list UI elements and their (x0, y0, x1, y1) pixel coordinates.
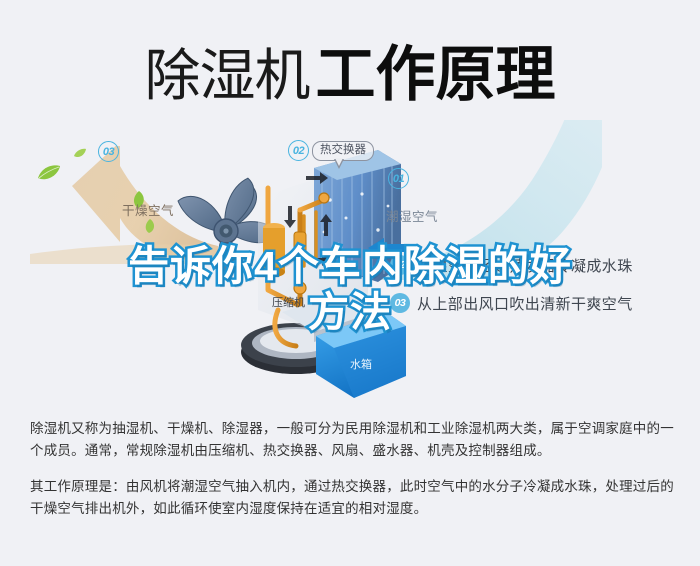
dehumidifier-unit-illustration: 压缩机 水箱 (238, 140, 408, 402)
legend-item-text: 潮湿空气经过蒸发器冷凝成水珠 (417, 255, 633, 276)
legend-badge-03: 03 (390, 293, 410, 313)
legend-item: 03 从上部出风口吹出清新干爽空气 (390, 284, 690, 322)
compressor-label: 压缩机 (272, 295, 305, 309)
page-root: 除湿机工作原理 (0, 0, 700, 566)
dry-air-label: 干燥空气 (122, 200, 174, 219)
legend-list: 02 潮湿空气经过蒸发器冷凝成水珠 03 从上部出风口吹出清新干爽空气 (390, 246, 690, 322)
moist-air-label: 潮湿空气 (386, 206, 438, 225)
callout-pointer-icon (334, 159, 344, 169)
diagram-marker-01: 01 (388, 168, 409, 189)
body-paragraph-2: 其工作原理是：由风机将潮湿空气抽入机内，通过热交换器，此时空气中的水分子冷凝成水… (30, 476, 678, 520)
leaf-icon (36, 164, 62, 187)
article-body: 除湿机又称为抽湿机、干燥机、除湿器，一般可分为民用除湿机和工业除湿机两大类，属于… (30, 418, 678, 520)
heat-exchanger-callout: 02 热交换器 (288, 140, 374, 161)
page-title-bold: 工作原理 (316, 41, 556, 108)
diagram-marker-03: 03 (98, 141, 119, 162)
legend-badge-02: 02 (390, 255, 410, 275)
leaf-icon (144, 218, 157, 239)
body-paragraph-1: 除湿机又称为抽湿机、干燥机、除湿器，一般可分为民用除湿机和工业除湿机两大类，属于… (30, 418, 678, 462)
page-title: 除湿机工作原理 (0, 26, 700, 113)
leaf-icon (73, 146, 87, 164)
callout-badge-02: 02 (288, 140, 309, 161)
legend-item-text: 从上部出风口吹出清新干爽空气 (417, 293, 633, 314)
water-tank-label: 水箱 (350, 357, 372, 371)
legend-item: 02 潮湿空气经过蒸发器冷凝成水珠 (390, 246, 690, 284)
dehumidifier-diagram: 压缩机 水箱 02 热交换器 01 潮湿空气 03 干燥空气 02 潮湿空气经过… (0, 118, 700, 408)
page-title-light: 除湿机 (145, 44, 310, 107)
callout-label: 热交换器 (312, 141, 374, 161)
